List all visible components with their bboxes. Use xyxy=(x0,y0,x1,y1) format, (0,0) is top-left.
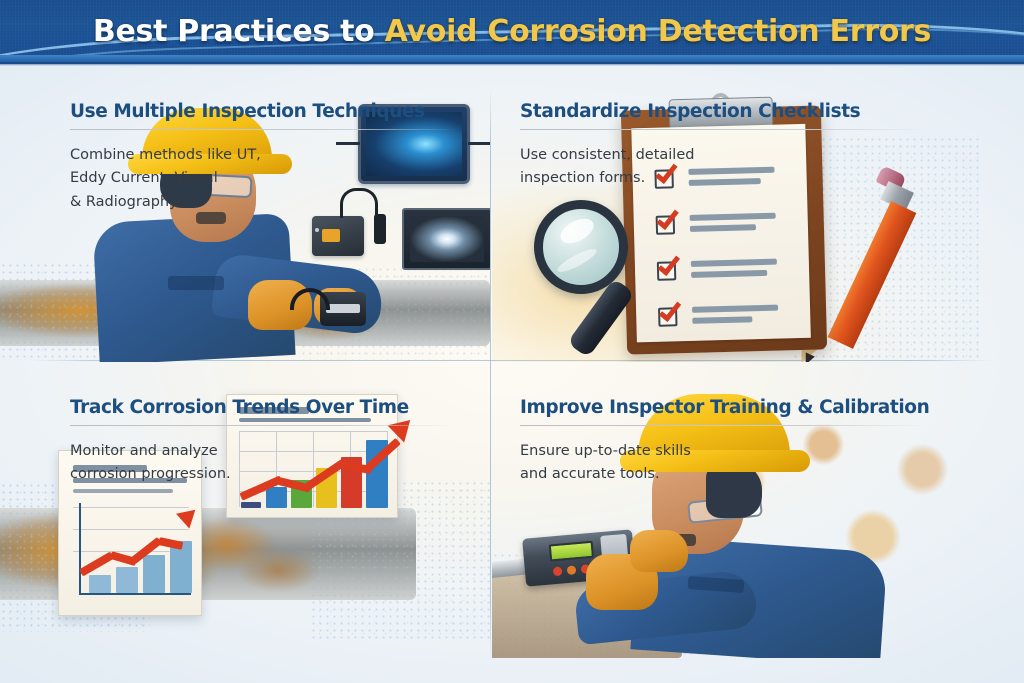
device-cable-loop xyxy=(340,188,378,218)
magnifier-glint-upper xyxy=(556,214,597,249)
quadrant-heading: Standardize Inspection Checklists xyxy=(520,101,956,122)
pipe-schematic-left xyxy=(336,142,360,145)
checkbox-3[interactable] xyxy=(657,261,676,280)
quadrant-body-text: Ensure up-to-date skills and accurate to… xyxy=(520,440,691,487)
chart-back-gridline-v3 xyxy=(313,431,314,507)
quadrant-heading-rule xyxy=(520,425,926,426)
checkmark-4 xyxy=(659,298,681,322)
ut-probe-band xyxy=(326,304,360,313)
checkmark-3 xyxy=(658,252,680,276)
quadrant-heading: Track Corrosion Trends Over Time xyxy=(70,397,464,418)
chart-back-bar-1 xyxy=(241,502,261,508)
chart-front-gridline-1 xyxy=(73,507,189,508)
checklist-line-2a xyxy=(690,213,776,221)
checklist-line-1a xyxy=(688,167,774,175)
checklist-line-3b xyxy=(691,270,767,278)
chart-back-bar-2 xyxy=(266,487,287,508)
quadrant-track-corrosion-trends: Track Corrosion Trends Over Time Monitor… xyxy=(0,362,490,658)
chart-front-arrow-seg-1 xyxy=(79,552,114,577)
chart-front-bar-1 xyxy=(89,575,111,593)
quadrant-body-text: Combine methods like UT, Eddy Current, V… xyxy=(70,144,261,214)
radiograph-panel xyxy=(402,208,490,270)
gauge-lcd-display xyxy=(549,541,594,562)
handheld-ut-device xyxy=(312,216,364,256)
coverall-pocket xyxy=(168,276,224,290)
checklist-line-4b xyxy=(692,316,752,324)
quadrant-grid: Use Multiple Inspection Techniques Combi… xyxy=(0,66,1024,683)
checkmark-2 xyxy=(657,206,679,230)
quadrant-heading-rule xyxy=(70,425,454,426)
quadrant-use-multiple-inspection-techniques: Use Multiple Inspection Techniques Combi… xyxy=(0,66,490,362)
pipe-schematic-right xyxy=(468,142,490,145)
quadrant-body-text: Monitor and analyze corrosion progressio… xyxy=(70,440,231,487)
divider-vertical xyxy=(490,88,491,658)
chart-front-bar-2 xyxy=(116,567,138,593)
infographic-poster: Best Practices to Avoid Corrosion Detect… xyxy=(0,0,1024,683)
quadrant-heading: Use Multiple Inspection Techniques xyxy=(70,101,464,122)
chart-front-bar-3 xyxy=(143,555,165,593)
checkbox-4[interactable] xyxy=(658,307,677,326)
quadrant-heading-rule xyxy=(70,129,454,130)
device-led xyxy=(315,228,319,232)
chart-front-axis-x xyxy=(79,593,191,595)
quadrant-standardize-inspection-checklists: Standardize Inspection Checklists Use co… xyxy=(492,66,982,362)
chart-front-gridline-2 xyxy=(73,529,189,530)
gauge-button-1[interactable] xyxy=(553,567,563,577)
page-title-yellow: Avoid Corrosion Detection Errors xyxy=(385,14,931,49)
page-title-white: Best Practices to xyxy=(93,14,375,49)
quadrant-heading-rule xyxy=(520,129,926,130)
chart-back-subtitle-bar xyxy=(239,418,371,422)
gauge-button-2[interactable] xyxy=(567,565,577,575)
radiograph-image xyxy=(410,216,484,262)
chart-front-subtitle-bar-2 xyxy=(73,489,173,493)
probe-connector xyxy=(374,214,386,244)
checkbox-2[interactable] xyxy=(656,215,675,234)
clipboard xyxy=(621,105,827,354)
checklist-line-1b xyxy=(689,178,761,186)
quadrant-heading: Improve Inspector Training & Calibration xyxy=(520,397,956,418)
chart-front-axis-y xyxy=(79,503,81,595)
worker-glove-right xyxy=(630,530,688,572)
quadrant-improve-inspector-training: Improve Inspector Training & Calibration… xyxy=(492,362,982,658)
device-display xyxy=(322,229,340,242)
page-title: Best Practices to Avoid Corrosion Detect… xyxy=(0,14,1024,49)
magnifier-lens xyxy=(534,200,628,294)
checklist-line-3a xyxy=(691,259,777,267)
checklist-line-4a xyxy=(692,305,778,313)
magnifier-glint-lower xyxy=(555,245,599,275)
quadrant-body-text: Use consistent, detailed inspection form… xyxy=(520,144,694,191)
checklist-line-2b xyxy=(690,224,756,232)
